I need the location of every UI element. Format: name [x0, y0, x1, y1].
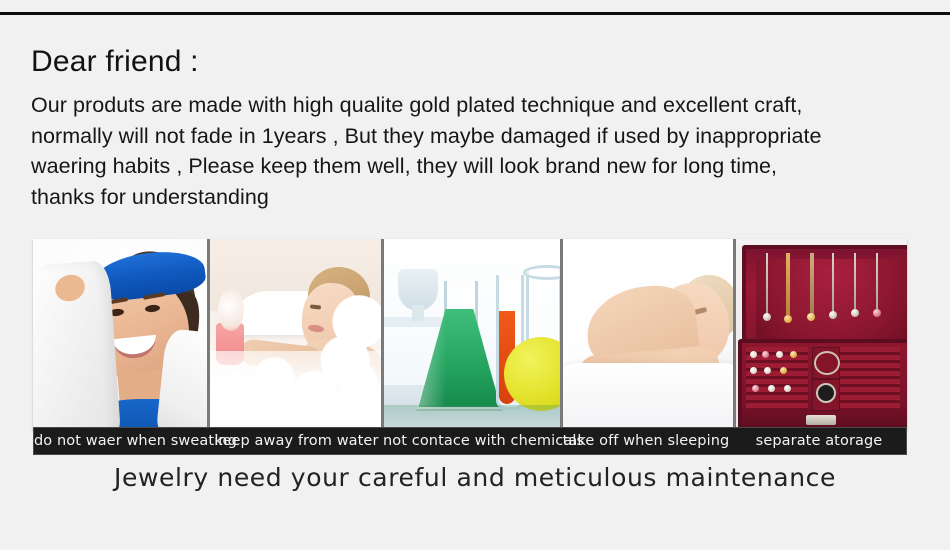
photo-panel-water [210, 239, 384, 431]
caption-sleeping: take off when sleeping [560, 433, 732, 449]
sweating-image [33, 239, 207, 431]
box-clasp-shape [806, 415, 836, 425]
page-title: Dear friend : [31, 45, 199, 79]
jewelry-box-image [736, 239, 907, 431]
paragraph-line-1: Our produts are made with high qualite g… [31, 90, 936, 121]
paragraph-line-3: waering habits , Please keep them well, … [31, 151, 936, 182]
bath-image [210, 239, 381, 431]
lab-glassware-image [384, 239, 559, 431]
maintenance-tagline: Jewelry need your careful and meticulous… [0, 463, 950, 492]
glass-stopper-shape [398, 269, 438, 311]
paragraph-line-2: normally will not fade in 1years , But t… [31, 121, 936, 152]
paragraph-line-4: thanks for understanding [31, 182, 936, 213]
sleeping-image [563, 239, 733, 431]
notice-content: Dear friend : Our produts are made with … [0, 15, 950, 550]
caption-chemicals: not contace with chemicals [383, 433, 560, 449]
photo-panel-sleeping [563, 239, 736, 431]
care-paragraph: Our produts are made with high qualite g… [31, 90, 936, 212]
photo-strip [33, 239, 907, 431]
caption-sweating: do not waer when sweating [34, 433, 210, 449]
caption-bar: do not waer when sweating keep away from… [33, 427, 907, 455]
photo-panel-chemicals [384, 239, 562, 431]
photo-panel-sweating [33, 239, 210, 431]
photo-panel-storage [736, 239, 907, 431]
care-notice-page: Dear friend : Our produts are made with … [0, 0, 950, 550]
bubble-foam-shape [210, 351, 384, 431]
caption-storage: separate atorage [732, 433, 906, 449]
caption-water: keep away from water [210, 433, 383, 449]
pillow-shape [563, 363, 736, 431]
